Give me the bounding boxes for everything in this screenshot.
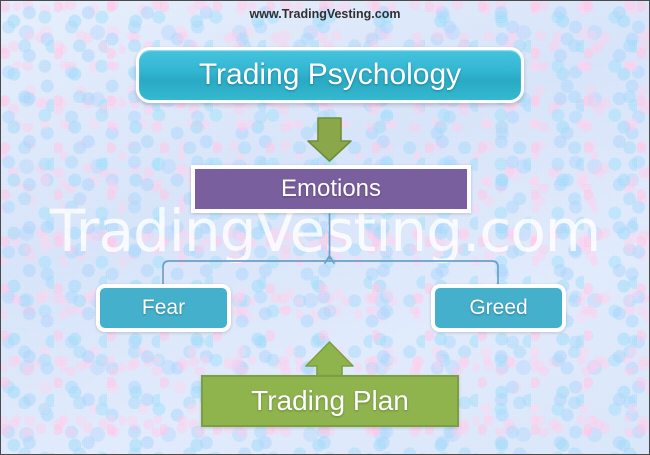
node-trading-psychology[interactable]: Trading Psychology — [136, 47, 524, 103]
node-trading-psychology-label: Trading Psychology — [199, 58, 461, 92]
node-emotions-label: Emotions — [281, 175, 381, 203]
arrow-down-icon — [308, 118, 351, 161]
node-trading-plan[interactable]: Trading Plan — [201, 375, 459, 427]
node-fear[interactable]: Fear — [96, 284, 231, 332]
node-fear-label: Fear — [142, 296, 185, 320]
node-emotions[interactable]: Emotions — [191, 165, 471, 213]
node-greed-label: Greed — [469, 296, 527, 320]
diagram-canvas: TradingVesting.com www.TradingVesting.co… — [0, 0, 650, 455]
split-bracket-connector — [163, 214, 498, 284]
node-trading-plan-label: Trading Plan — [251, 385, 409, 417]
node-greed[interactable]: Greed — [431, 284, 566, 332]
